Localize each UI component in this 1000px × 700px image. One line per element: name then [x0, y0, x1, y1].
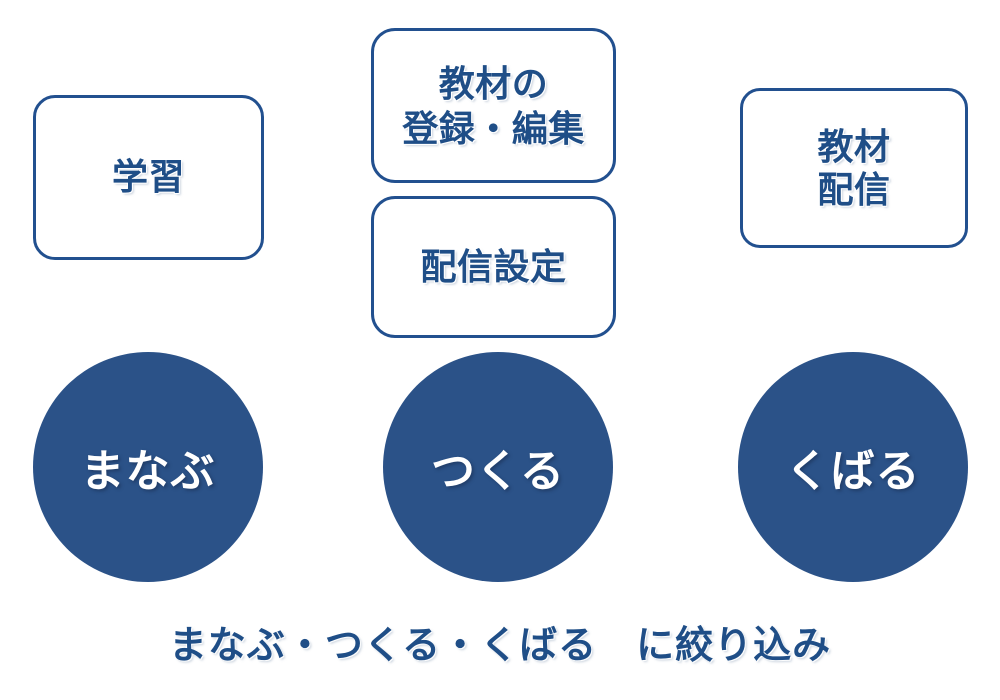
- diagram-canvas: 学習 教材の 登録・編集 配信設定 教材 配信 まなぶ つくる くばる まなぶ・…: [0, 0, 1000, 700]
- card-gakushu-label: 学習: [112, 157, 185, 197]
- card-haishin-settei[interactable]: 配信設定: [371, 196, 616, 338]
- circle-kubaru[interactable]: くばる: [738, 352, 968, 582]
- diagram-caption: まなぶ・つくる・くばる に絞り込み: [0, 614, 1000, 669]
- circle-manabu[interactable]: まなぶ: [33, 352, 263, 582]
- card-kyozai-toroku-label: 教材の 登録・編集: [402, 61, 585, 151]
- circle-kubaru-label: くばる: [786, 435, 921, 499]
- circle-tsukuru[interactable]: つくる: [383, 352, 613, 582]
- card-kyozai-haishin[interactable]: 教材 配信: [740, 88, 968, 248]
- circle-manabu-label: まなぶ: [81, 435, 216, 499]
- card-haishin-settei-label: 配信設定: [420, 247, 566, 287]
- card-kyozai-haishin-label: 教材 配信: [817, 125, 890, 211]
- card-kyozai-toroku[interactable]: 教材の 登録・編集: [371, 28, 616, 183]
- card-gakushu[interactable]: 学習: [33, 95, 264, 260]
- circle-tsukuru-label: つくる: [431, 435, 565, 499]
